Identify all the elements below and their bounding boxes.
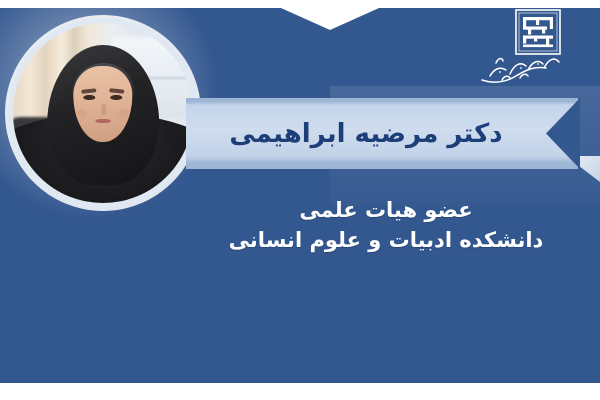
portrait-brow-right bbox=[109, 88, 125, 93]
faculty-profile-card: دکتر مرضیه ابراهیمی عضو هیات علمی دانشکد… bbox=[0, 0, 600, 400]
portrait-cheek-left bbox=[77, 109, 88, 117]
portrait-eye-right bbox=[111, 95, 123, 100]
portrait-mouth bbox=[95, 119, 110, 123]
subtitle-block: عضو هیات علمی دانشکده ادبیات و علوم انسا… bbox=[190, 196, 582, 256]
portrait-nose bbox=[101, 104, 106, 115]
portrait-photo bbox=[13, 23, 193, 203]
portrait-cheek-right bbox=[118, 109, 129, 117]
portrait-brow-left bbox=[81, 88, 97, 93]
portrait-eye-left bbox=[83, 95, 95, 100]
subtitle-line-2: دانشکده ادبیات و علوم انسانی bbox=[190, 226, 582, 256]
page-title: دکتر مرضیه ابراهیمی bbox=[186, 98, 546, 169]
avatar bbox=[8, 18, 198, 208]
subtitle-line-1: عضو هیات علمی bbox=[190, 196, 582, 226]
shahid-beheshti-university-logo-icon bbox=[476, 6, 572, 92]
